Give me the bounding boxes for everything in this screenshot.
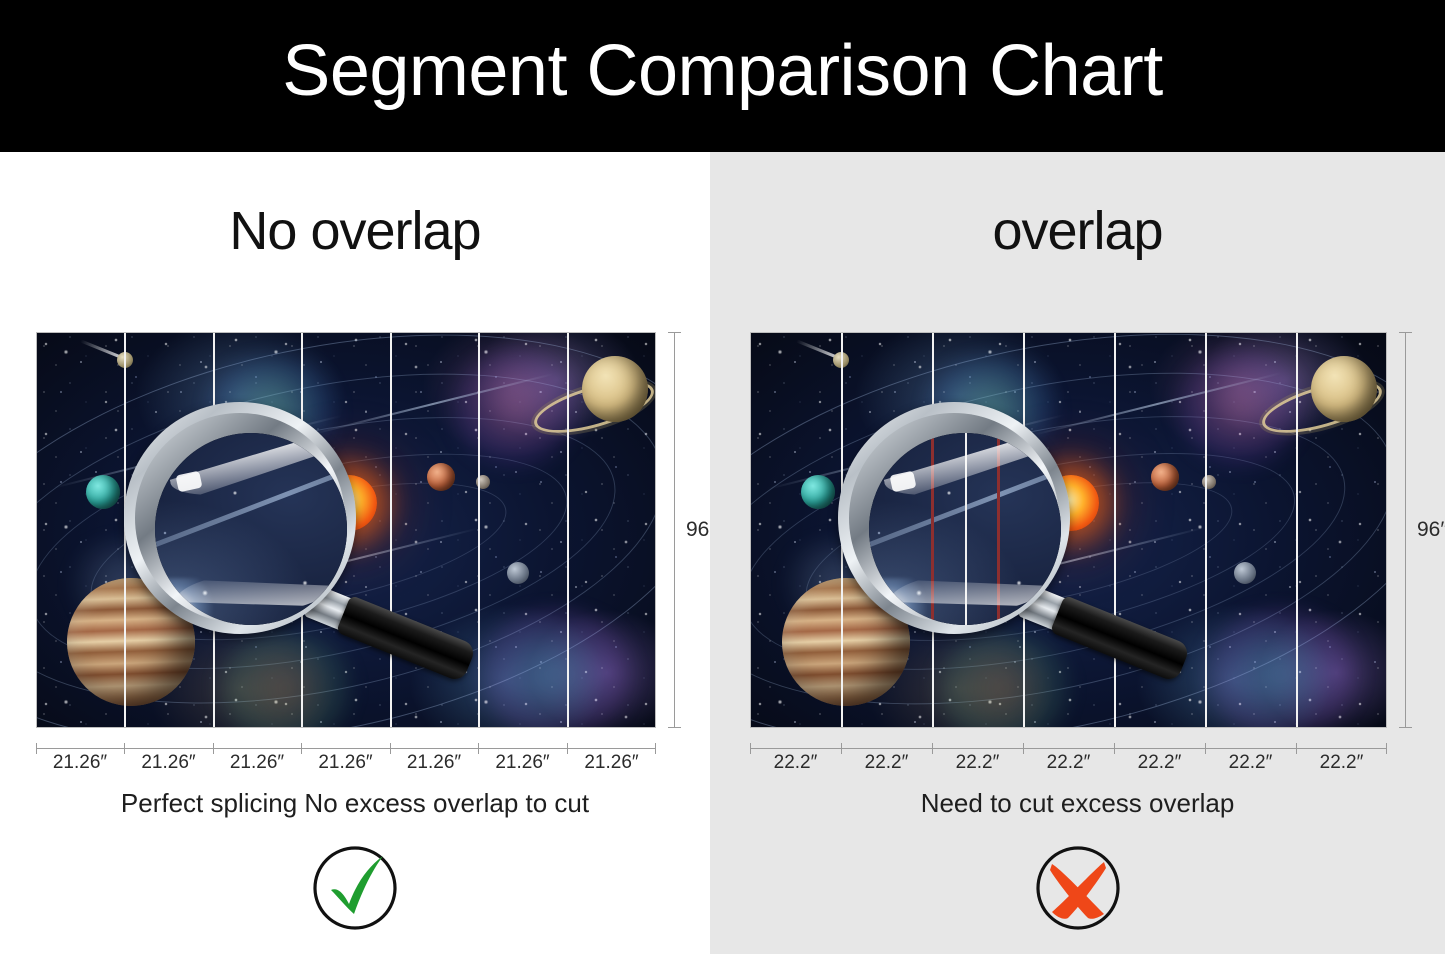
right-mural-wrap: 96″ 22.2″ 22.2″ 22.2″ 22.2″ 22.2″ 22.2″ … <box>750 332 1387 728</box>
right-height-dimension-line <box>1405 332 1406 728</box>
left-panel-heading: No overlap <box>0 200 710 262</box>
left-mural-wrap: 96″ 21.26″ 21.26″ 21.26″ 21.26″ 21.26″ 2… <box>36 332 656 728</box>
title-banner: Segment Comparison Chart <box>0 0 1445 152</box>
segment-divider <box>478 332 480 728</box>
magnifier-glass <box>869 433 1061 625</box>
segment-divider <box>390 332 392 728</box>
left-segment-label: 21.26″ <box>213 752 301 774</box>
right-caption: Need to cut excess overlap <box>710 788 1445 819</box>
segment-divider <box>1114 332 1116 728</box>
magnifier-glass <box>155 433 347 625</box>
magnifier-inner-ring <box>135 413 345 623</box>
magnifier-lens-ring <box>838 402 1070 634</box>
green-check-icon <box>309 842 401 934</box>
left-segment-label: 21.26″ <box>124 752 213 774</box>
right-panel-heading: overlap <box>710 200 1445 262</box>
right-segment-label: 22.2″ <box>932 752 1023 774</box>
left-segment-label: 21.26″ <box>390 752 478 774</box>
left-segment-label: 21.26″ <box>301 752 390 774</box>
segment-divider <box>1296 332 1298 728</box>
left-width-dimension-line <box>36 748 656 749</box>
right-width-dimension-line <box>750 748 1387 749</box>
segment-divider <box>567 332 569 728</box>
left-segment-label: 21.26″ <box>36 752 124 774</box>
page-title: Segment Comparison Chart <box>0 30 1445 112</box>
segment-comparison-chart-page: Segment Comparison Chart No overlap <box>0 0 1445 954</box>
magnifier-lens-ring <box>124 402 356 634</box>
left-caption: Perfect splicing No excess overlap to cu… <box>0 788 710 819</box>
left-segment-label: 21.26″ <box>567 752 656 774</box>
right-segment-label: 22.2″ <box>841 752 932 774</box>
right-segment-label: 22.2″ <box>1023 752 1114 774</box>
magnifier-inner-ring <box>849 413 1059 623</box>
panel-overlap: overlap <box>710 152 1445 954</box>
left-segment-label: 21.26″ <box>478 752 567 774</box>
right-segment-label: 22.2″ <box>1296 752 1387 774</box>
right-segment-label: 22.2″ <box>1114 752 1205 774</box>
red-cross-icon <box>1032 842 1124 934</box>
left-height-dimension-line <box>674 332 675 728</box>
segment-divider <box>1205 332 1207 728</box>
panel-no-overlap: No overlap <box>0 152 710 954</box>
right-segment-label: 22.2″ <box>750 752 841 774</box>
right-segment-label: 22.2″ <box>1205 752 1296 774</box>
right-height-label: 96″ <box>1417 518 1445 542</box>
